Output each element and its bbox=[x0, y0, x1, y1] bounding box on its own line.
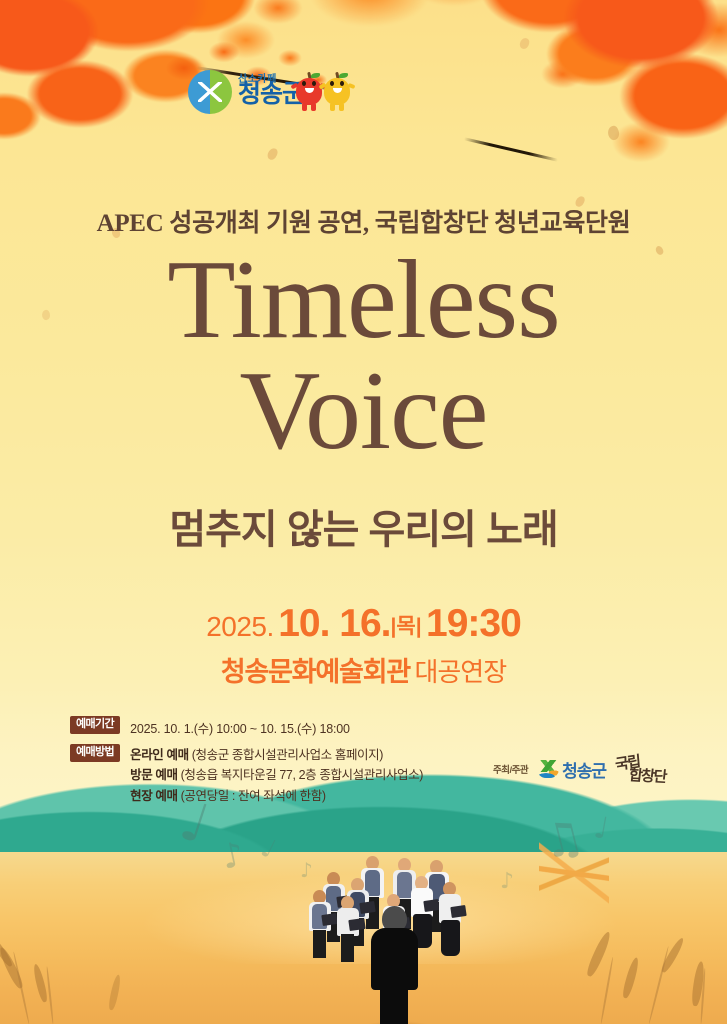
apple-mascot-red-icon bbox=[296, 72, 322, 112]
booking-method-label: 온라인 예매 bbox=[130, 748, 189, 762]
national-chorus-logo: 국립 합창단 bbox=[615, 752, 677, 786]
reed-grass-icon bbox=[585, 930, 613, 978]
music-note-icon: ♪ bbox=[500, 869, 514, 894]
booking-method-list: 온라인 예매 (청송군 종합시설관리사업소 홈페이지) 방문 예매 (청송읍 복… bbox=[130, 744, 423, 806]
reed-stem-icon bbox=[700, 968, 706, 1024]
booking-method-detail: (청송읍 복지타운길 77, 2층 종합시설관리사업소) bbox=[181, 768, 423, 782]
venue-name: 청송문화예술회관 bbox=[221, 657, 410, 687]
music-note-icon: ♩ bbox=[591, 810, 611, 847]
music-note-icon: ♪ bbox=[218, 834, 248, 878]
reed-grass-icon bbox=[32, 963, 49, 1003]
autumn-foliage-top-icon bbox=[300, 0, 520, 60]
datetime-year: 2025. bbox=[206, 611, 274, 642]
datetime-weekday: |목| bbox=[391, 615, 422, 638]
title-line-1: Timeless bbox=[0, 245, 727, 356]
datetime-date: 10. 16. bbox=[278, 602, 390, 645]
oxygen-cafe-emblem-icon bbox=[188, 70, 232, 114]
choir-conductor bbox=[367, 906, 421, 1024]
booking-method-item: 현장 예매 (공연당일 : 잔여 좌석에 한함) bbox=[130, 786, 423, 806]
conductor-legs bbox=[380, 986, 408, 1024]
venue-hall: 대공연장 bbox=[414, 657, 506, 687]
reed-grass-icon bbox=[660, 936, 686, 974]
falling-petal-icon bbox=[606, 125, 621, 142]
title-line-2: Voice bbox=[0, 356, 727, 467]
field-plant-icon bbox=[539, 834, 609, 912]
apple-mascot-yellow-icon bbox=[324, 72, 350, 112]
booking-method-row: 예매방법 온라인 예매 (청송군 종합시설관리사업소 홈페이지) 방문 예매 (… bbox=[70, 744, 470, 806]
cheongsong-gun-sponsor-logo: 청송군 bbox=[537, 757, 606, 782]
reed-grass-icon bbox=[0, 946, 25, 990]
cheongsong-county-logo: 산소카페 청송군 bbox=[188, 64, 348, 120]
reed-stem-icon bbox=[46, 966, 54, 1024]
booking-method-item: 방문 예매 (청송읍 복지타운길 77, 2층 종합시설관리사업소) bbox=[130, 765, 423, 785]
sponsor-label: 주최/주관 bbox=[493, 762, 528, 776]
mountain-water-icon bbox=[537, 760, 559, 778]
concert-poster: ♩ ♪ ♩ ♪ ♫ ♩ ♪ bbox=[0, 0, 727, 1024]
booking-method-label: 현장 예매 bbox=[130, 789, 177, 803]
choir-illustration bbox=[305, 856, 485, 988]
event-title: Timeless Voice bbox=[0, 245, 727, 467]
conductor-body bbox=[371, 928, 418, 990]
booking-method-detail: (청송군 종합시설관리사업소 홈페이지) bbox=[192, 748, 383, 762]
booking-method-label: 방문 예매 bbox=[130, 768, 177, 782]
event-subtitle: APEC 성공개최 기원 공연, 국립합창단 청년교육단원 bbox=[0, 203, 727, 239]
booking-method-badge: 예매방법 bbox=[70, 744, 120, 762]
national-chorus-line-2: 합창단 bbox=[628, 764, 667, 787]
reed-grass-icon bbox=[107, 974, 122, 1011]
reed-grass-icon bbox=[621, 956, 641, 999]
reed-stem-icon bbox=[648, 946, 669, 1024]
booking-period-badge: 예매기간 bbox=[70, 716, 120, 734]
booking-method-item: 온라인 예매 (청송군 종합시설관리사업소 홈페이지) bbox=[130, 745, 423, 765]
sponsor-section: 주최/주관 청송군 국립 합창단 bbox=[493, 752, 677, 786]
booking-information: 예매기간 2025. 10. 1.(수) 10:00 ~ 10. 15.(수) … bbox=[70, 716, 470, 813]
music-note-icon: ♫ bbox=[536, 808, 589, 870]
reed-stem-icon bbox=[600, 957, 614, 1024]
falling-petal-icon bbox=[519, 37, 530, 50]
tree-branch-right-icon bbox=[464, 137, 558, 162]
event-venue: 청송문화예술회관 대공연장 bbox=[0, 650, 727, 689]
music-note-icon: ♩ bbox=[256, 833, 280, 865]
booking-period-row: 예매기간 2025. 10. 1.(수) 10:00 ~ 10. 15.(수) … bbox=[70, 716, 470, 737]
datetime-time: 19:30 bbox=[426, 602, 521, 645]
event-tagline: 멈추지 않는 우리의 노래 bbox=[0, 497, 727, 555]
booking-method-detail: (공연당일 : 잔여 좌석에 한함) bbox=[181, 789, 326, 803]
booking-period-text: 2025. 10. 1.(수) 10:00 ~ 10. 15.(수) 18:00 bbox=[130, 716, 350, 737]
reed-grass-icon bbox=[691, 961, 706, 1007]
falling-petal-icon bbox=[266, 147, 279, 161]
reed-stem-icon bbox=[13, 951, 30, 1024]
event-datetime: 2025. 10. 16.|목| 19:30 bbox=[0, 604, 727, 643]
cheongsong-gun-name: 청송군 bbox=[562, 757, 606, 782]
reed-grass-icon bbox=[0, 934, 14, 968]
